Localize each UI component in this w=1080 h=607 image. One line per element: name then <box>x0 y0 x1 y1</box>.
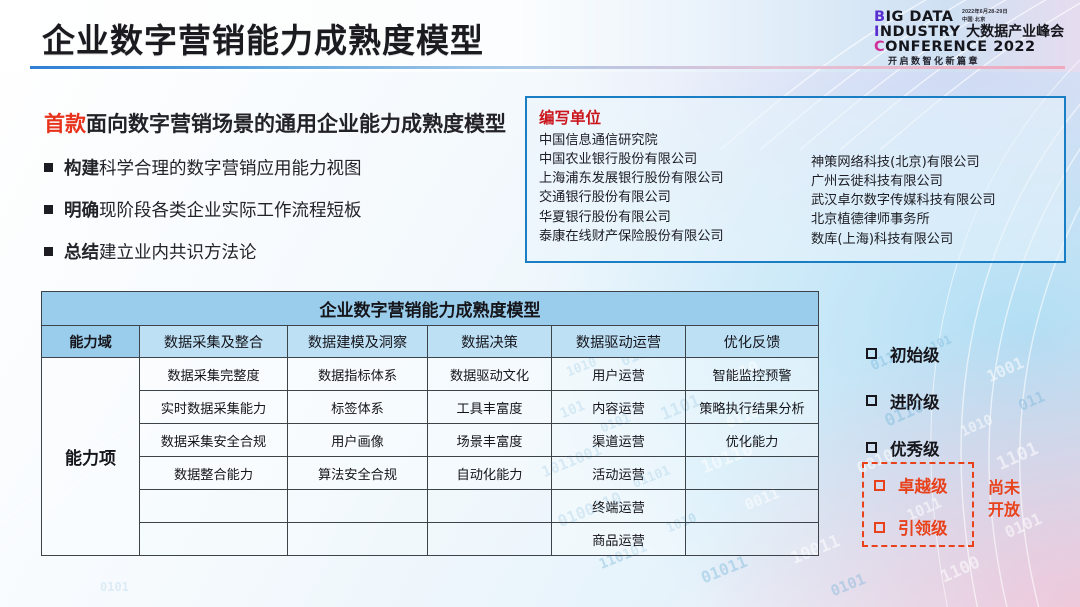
level-item-advanced[interactable]: 进阶级 <box>866 377 1076 424</box>
maturity-levels-list: 初始级 进阶级 优秀级 <box>866 330 1076 471</box>
list-item: 泰康在线财产保险股份有限公司 <box>539 227 811 246</box>
intro-headline: 首款面向数字营销场景的通用企业能力成熟度模型 <box>44 108 524 138</box>
table-cell <box>140 523 288 556</box>
list-item: 中国农业银行股份有限公司 <box>539 150 811 169</box>
level-item-leading[interactable]: 引领级 <box>864 506 972 548</box>
table-cell: 数据指标体系 <box>288 358 428 391</box>
authoring-units-title: 编写单位 <box>539 106 1064 128</box>
locked-levels-note: 尚未 开放 <box>988 477 1020 520</box>
table-cell: 策略执行结果分析 <box>686 391 819 424</box>
level-label: 进阶级 <box>890 389 940 413</box>
table-cell: 自动化能力 <box>428 457 552 490</box>
table-cell <box>288 523 428 556</box>
table-cell: 标签体系 <box>288 391 428 424</box>
table-row: 终端运营 <box>42 490 819 523</box>
table-cell <box>140 490 288 523</box>
intro-bullet-2-rest: 现阶段各类企业实际工作流程短板 <box>99 197 362 222</box>
locked-note-line-1: 尚未 <box>988 477 1020 499</box>
table-cell: 渠道运营 <box>552 424 686 457</box>
intro-block: 首款面向数字营销场景的通用企业能力成熟度模型 构建科学合理的数字营销应用能力视图… <box>44 108 524 264</box>
logo-line-3: CONFERENCE 2022 <box>874 40 1036 55</box>
checkbox-icon[interactable] <box>866 348 877 359</box>
logo-line-2-cn: 大数据产业峰会 <box>966 24 1064 40</box>
table-cell <box>686 490 819 523</box>
table-row: 实时数据采集能力 标签体系 工具丰富度 内容运营 策略执行结果分析 <box>42 391 819 424</box>
intro-bullet-3-strong: 总结 <box>64 239 99 264</box>
logo-line-2: INDUSTRY 大数据产业峰会 <box>874 25 1064 40</box>
list-item: 北京植德律师事务所 <box>811 210 1061 229</box>
authoring-units-columns: 中国信息通信研究院 中国农业银行股份有限公司 上海浦东发展银行股份有限公司 交通… <box>539 131 1064 249</box>
level-item-initial[interactable]: 初始级 <box>866 330 1076 377</box>
table-cell <box>428 523 552 556</box>
column-header-3: 数据决策 <box>428 326 552 358</box>
square-bullet-icon <box>44 247 53 256</box>
logo-place-line: 中国·北京 <box>962 17 1008 25</box>
list-item: 神策网络科技(北京)有限公司 <box>811 153 1061 172</box>
conference-logo: BIG DATA INDUSTRY 大数据产业峰会 CONFERENCE 202… <box>866 8 1066 64</box>
list-item: 中国信息通信研究院 <box>539 131 811 150</box>
locked-levels-group: 卓越级 引领级 <box>862 462 974 547</box>
table-cell: 智能监控预警 <box>686 358 819 391</box>
table-cell: 数据驱动文化 <box>428 358 552 391</box>
table-cell: 数据采集安全合规 <box>140 424 288 457</box>
table-row: 数据采集安全合规 用户画像 场景丰富度 渠道运营 优化能力 <box>42 424 819 457</box>
list-item: 武汉卓尔数字传媒科技有限公司 <box>811 191 1061 210</box>
table-title-row: 企业数字营销能力成熟度模型 <box>42 292 819 326</box>
authoring-units-left-column: 中国信息通信研究院 中国农业银行股份有限公司 上海浦东发展银行股份有限公司 交通… <box>539 131 811 249</box>
table-cell: 活动运营 <box>552 457 686 490</box>
table-cell <box>288 490 428 523</box>
intro-bullet-1-rest: 科学合理的数字营销应用能力视图 <box>99 155 362 180</box>
intro-bullet-3: 总结建立业内共识方法论 <box>44 239 524 264</box>
table-cell: 商品运营 <box>552 523 686 556</box>
column-header-5: 优化反馈 <box>686 326 819 358</box>
list-item: 交通银行股份有限公司 <box>539 188 811 207</box>
column-header-2: 数据建模及洞察 <box>288 326 428 358</box>
table-cell: 实时数据采集能力 <box>140 391 288 424</box>
logo-date: 2022年6月28-29日 中国·北京 <box>962 9 1008 25</box>
maturity-model-table: 企业数字营销能力成熟度模型 能力域 数据采集及整合 数据建模及洞察 数据决策 数… <box>41 291 819 556</box>
level-label: 优秀级 <box>890 436 940 460</box>
slide-header: 企业数字营销能力成熟度模型 BIG DATA INDUSTRY 大数据产业峰会 … <box>0 0 1080 75</box>
intro-bullet-1-strong: 构建 <box>64 155 99 180</box>
level-label: 引领级 <box>898 515 948 539</box>
logo-line-1: BIG DATA <box>874 10 954 25</box>
table-header-row: 能力域 数据采集及整合 数据建模及洞察 数据决策 数据驱动运营 优化反馈 <box>42 326 819 358</box>
table-cell <box>428 490 552 523</box>
checkbox-icon[interactable] <box>866 395 877 406</box>
column-header-1: 数据采集及整合 <box>140 326 288 358</box>
table-row: 数据整合能力 算法安全合规 自动化能力 活动运营 <box>42 457 819 490</box>
list-item: 华夏银行股份有限公司 <box>539 208 811 227</box>
authoring-units-right-column: 神策网络科技(北京)有限公司 广州云徙科技有限公司 武汉卓尔数字传媒科技有限公司… <box>811 131 1061 249</box>
intro-bullet-2: 明确现阶段各类企业实际工作流程短板 <box>44 197 524 222</box>
table-cell: 用户运营 <box>552 358 686 391</box>
column-header-4: 数据驱动运营 <box>552 326 686 358</box>
table-title: 企业数字营销能力成熟度模型 <box>42 292 819 326</box>
list-item: 广州云徙科技有限公司 <box>811 172 1061 191</box>
authoring-units-panel: 编写单位 中国信息通信研究院 中国农业银行股份有限公司 上海浦东发展银行股份有限… <box>525 96 1066 263</box>
intro-bullet-3-rest: 建立业内共识方法论 <box>99 239 257 264</box>
square-bullet-icon <box>44 163 53 172</box>
logo-date-line: 2022年6月28-29日 <box>962 9 1008 17</box>
checkbox-icon[interactable] <box>874 522 885 533</box>
square-bullet-icon <box>44 205 53 214</box>
checkbox-icon[interactable] <box>866 442 877 453</box>
table-cell: 工具丰富度 <box>428 391 552 424</box>
intro-headline-accent: 首款 <box>44 112 86 136</box>
intro-bullet-1: 构建科学合理的数字营销应用能力视图 <box>44 155 524 180</box>
checkbox-icon[interactable] <box>874 480 885 491</box>
list-item: 上海浦东发展银行股份有限公司 <box>539 169 811 188</box>
table-row: 能力项 数据采集完整度 数据指标体系 数据驱动文化 用户运营 智能监控预警 <box>42 358 819 391</box>
level-label: 初始级 <box>890 342 940 366</box>
table-cell: 场景丰富度 <box>428 424 552 457</box>
table-cell: 内容运营 <box>552 391 686 424</box>
intro-headline-rest: 面向数字营销场景的通用企业能力成熟度模型 <box>86 112 506 136</box>
table-cell: 数据采集完整度 <box>140 358 288 391</box>
table-cell: 优化能力 <box>686 424 819 457</box>
table-cell <box>686 523 819 556</box>
table-cell <box>686 457 819 490</box>
row-header-capability-items: 能力项 <box>42 358 140 556</box>
table-cell: 终端运营 <box>552 490 686 523</box>
intro-bullet-2-strong: 明确 <box>64 197 99 222</box>
table-cell: 数据整合能力 <box>140 457 288 490</box>
column-header-capability-domain: 能力域 <box>42 326 140 358</box>
locked-note-line-2: 开放 <box>988 499 1020 521</box>
table-cell: 算法安全合规 <box>288 457 428 490</box>
level-item-outstanding[interactable]: 卓越级 <box>864 464 972 506</box>
table-cell: 用户画像 <box>288 424 428 457</box>
table-row: 商品运营 <box>42 523 819 556</box>
page-title: 企业数字营销能力成熟度模型 <box>42 14 484 62</box>
list-item: 数库(上海)科技有限公司 <box>811 230 1061 249</box>
level-label: 卓越级 <box>898 473 948 497</box>
logo-subtitle: 开启数智化新篇章 <box>888 54 980 67</box>
